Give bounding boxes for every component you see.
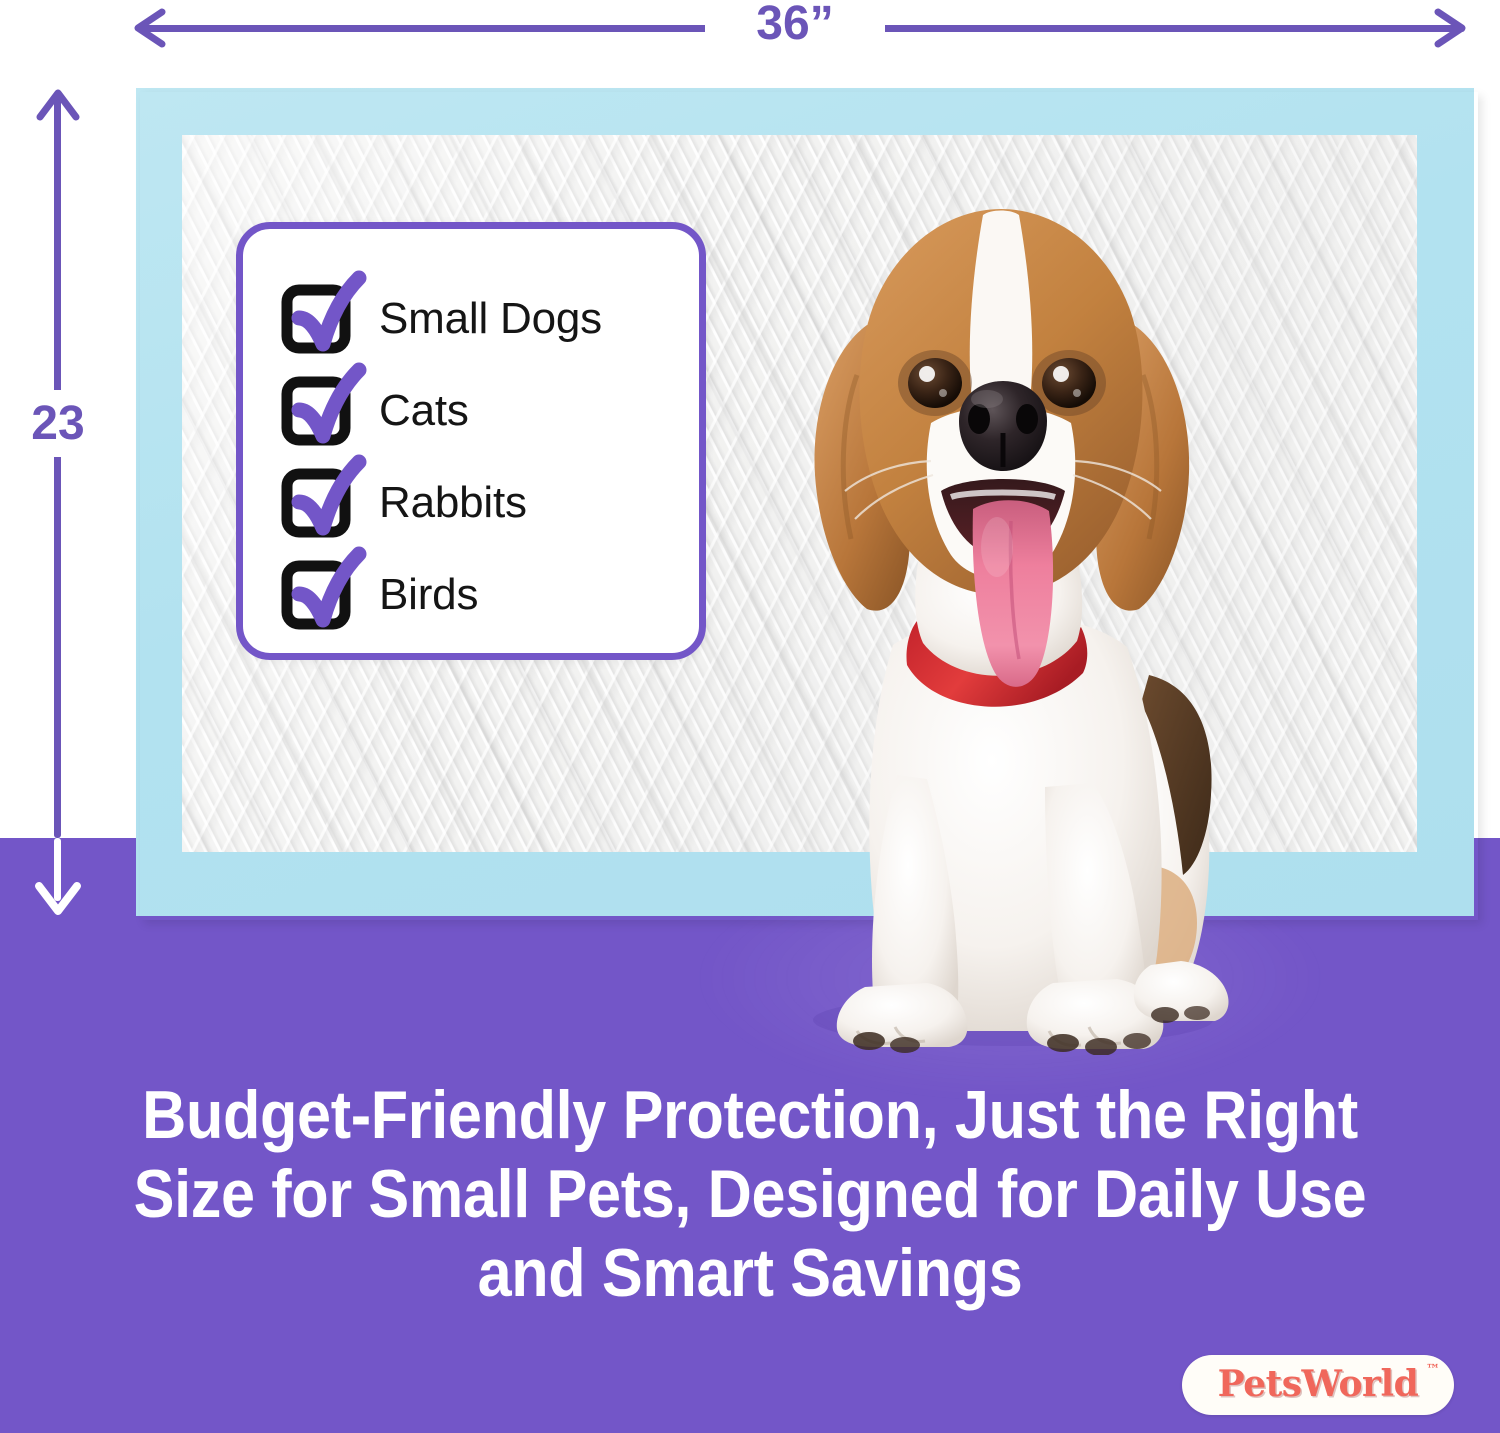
arrow-right-icon [1434,8,1468,48]
list-item-label: Birds [379,570,478,620]
height-dimension-line-upper [54,95,61,838]
checkbox-checked-icon[interactable] [285,472,347,534]
arrow-down-icon [34,880,82,918]
product-infographic: Small Dogs Cats Rabbits [0,0,1500,1433]
list-item-label: Cats [379,386,469,436]
trademark-symbol: ™ [1426,1362,1440,1378]
height-dimension-label: 23 [4,390,112,457]
width-dimension-label: 36” [705,0,885,51]
arrow-up-icon [36,86,80,122]
list-item: Rabbits [285,457,699,549]
list-item: Cats [285,365,699,457]
checkbox-checked-icon[interactable] [285,564,347,626]
compatible-pets-checklist: Small Dogs Cats Rabbits [236,222,706,660]
beagle-dog-photo [745,175,1285,1055]
list-item: Birds [285,549,699,641]
list-item-label: Rabbits [379,478,527,528]
checkbox-checked-icon[interactable] [285,380,347,442]
arrow-left-icon [132,8,166,48]
brand-name: PetsWorld [1218,1366,1419,1402]
list-item-label: Small Dogs [379,294,602,344]
headline-text: Budget-Friendly Protection, Just the Rig… [129,1076,1371,1313]
checkbox-checked-icon[interactable] [285,288,347,350]
brand-logo: PetsWorld ™ [1182,1355,1454,1415]
list-item: Small Dogs [285,273,699,365]
